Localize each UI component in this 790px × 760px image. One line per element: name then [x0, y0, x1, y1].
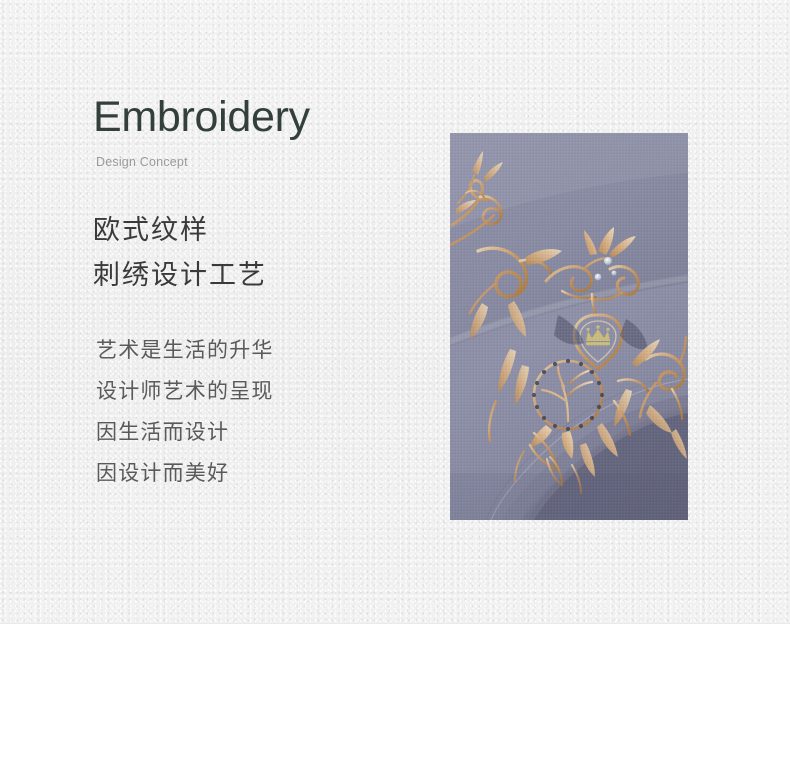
text-column: Embroidery Design Concept 欧式纹样 刺绣设计工艺 艺术…	[93, 92, 423, 494]
product-photo-artwork	[450, 133, 688, 520]
body-line-1: 艺术是生活的升华	[96, 330, 423, 371]
headline-group: 欧式纹样 刺绣设计工艺	[93, 208, 423, 298]
page-title: Embroidery	[93, 92, 423, 142]
product-detail-page: Embroidery Design Concept 欧式纹样 刺绣设计工艺 艺术…	[0, 0, 790, 760]
body-line-2: 设计师艺术的呈现	[96, 371, 423, 412]
body-copy-group: 艺术是生活的升华 设计师艺术的呈现 因生活而设计 因设计而美好	[96, 330, 423, 494]
page-subtitle: Design Concept	[96, 155, 423, 169]
body-line-4: 因设计而美好	[96, 453, 423, 494]
product-photo	[450, 133, 688, 520]
headline-line-1: 欧式纹样	[93, 208, 423, 253]
headline-line-2: 刺绣设计工艺	[93, 253, 423, 298]
body-line-3: 因生活而设计	[96, 412, 423, 453]
